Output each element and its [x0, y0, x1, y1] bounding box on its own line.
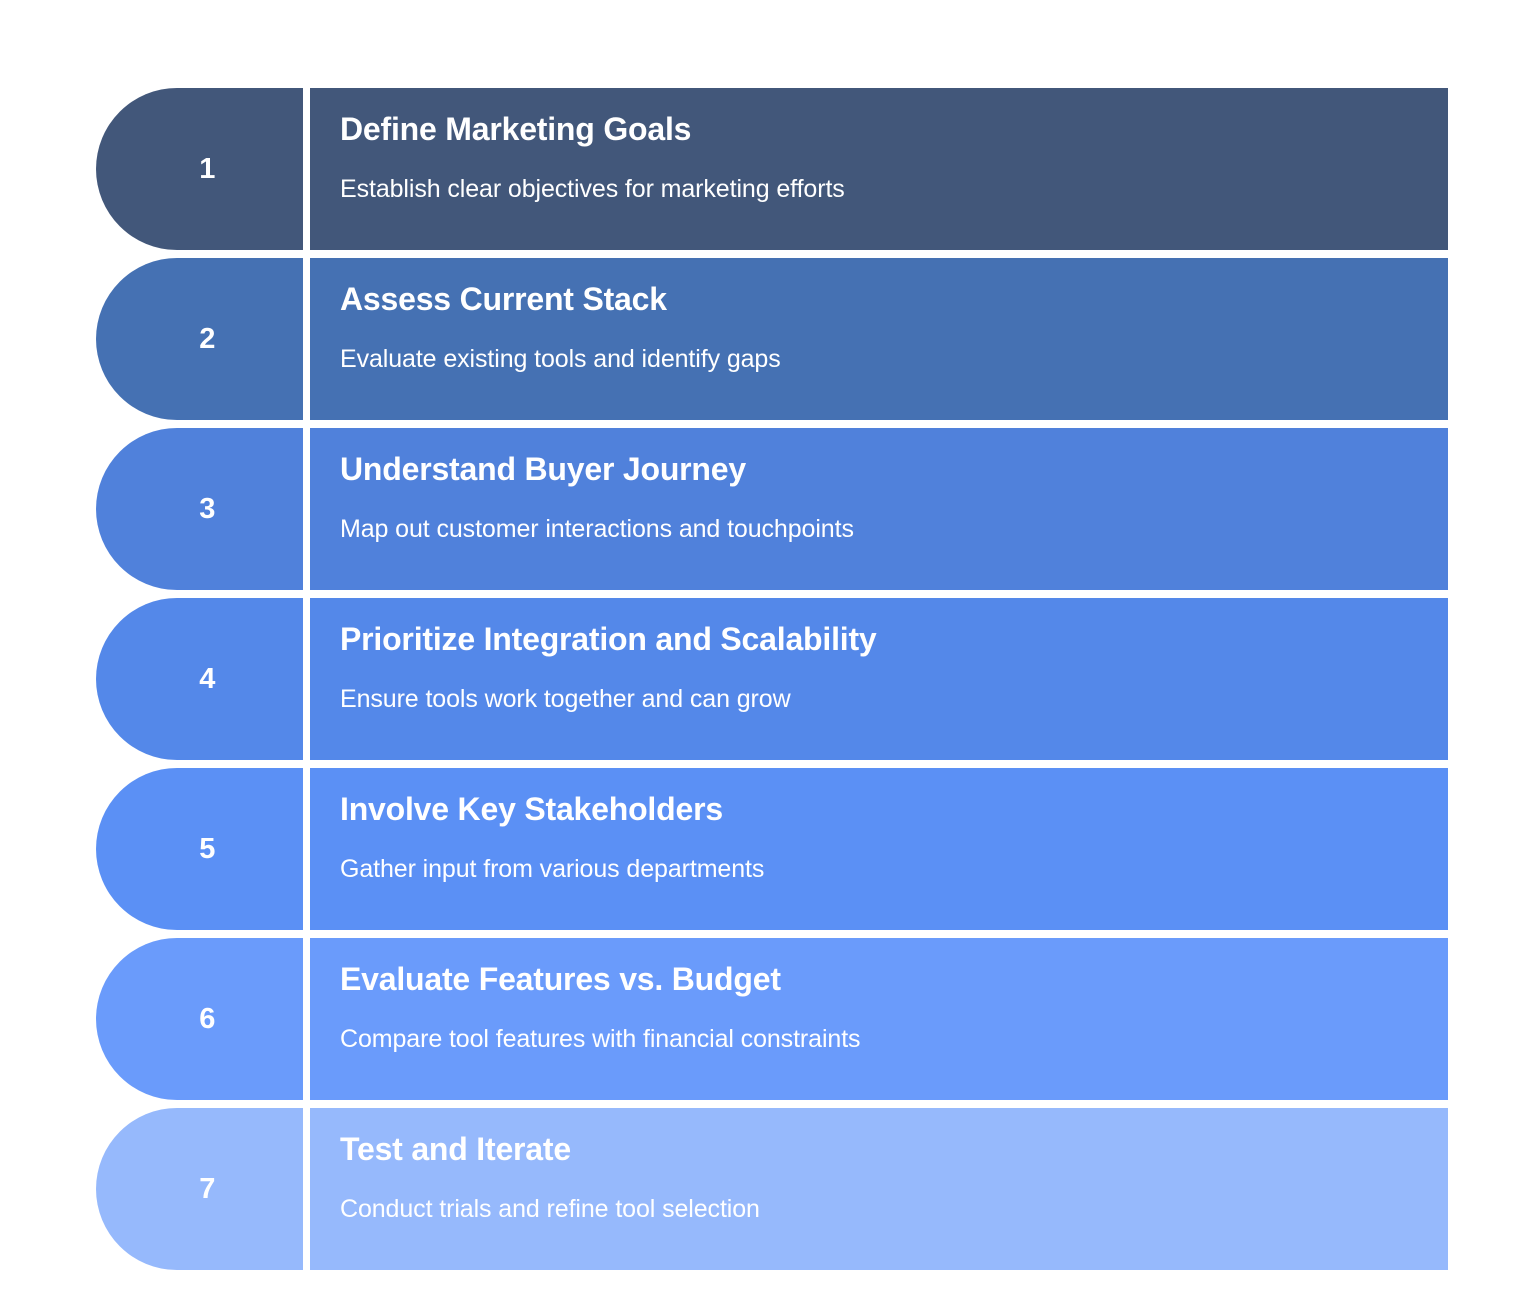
step-number-badge: 5 [96, 768, 303, 930]
step-title: Involve Key Stakeholders [340, 791, 1418, 829]
step-description: Conduct trials and refine tool selection [340, 1194, 1418, 1224]
step-description: Evaluate existing tools and identify gap… [340, 344, 1418, 374]
step-content-panel: Test and Iterate Conduct trials and refi… [310, 1108, 1448, 1270]
step-number-badge: 3 [96, 428, 303, 590]
step-title: Understand Buyer Journey [340, 451, 1418, 489]
step-content-panel: Involve Key Stakeholders Gather input fr… [310, 768, 1448, 930]
step-content-panel: Prioritize Integration and Scalability E… [310, 598, 1448, 760]
step-number: 3 [183, 495, 215, 524]
step-number: 6 [183, 1005, 215, 1034]
step-content-panel: Define Marketing Goals Establish clear o… [310, 88, 1448, 250]
step-row[interactable]: 1 Define Marketing Goals Establish clear… [96, 88, 1448, 250]
step-description: Establish clear objectives for marketing… [340, 174, 1418, 204]
step-content-panel: Assess Current Stack Evaluate existing t… [310, 258, 1448, 420]
step-description: Ensure tools work together and can grow [340, 684, 1418, 714]
step-number: 5 [183, 835, 215, 864]
step-number: 1 [183, 155, 215, 184]
step-row[interactable]: 7 Test and Iterate Conduct trials and re… [96, 1108, 1448, 1270]
step-description: Compare tool features with financial con… [340, 1024, 1418, 1054]
step-row[interactable]: 6 Evaluate Features vs. Budget Compare t… [96, 938, 1448, 1100]
step-title: Test and Iterate [340, 1131, 1418, 1169]
step-number-badge: 4 [96, 598, 303, 760]
step-content-panel: Evaluate Features vs. Budget Compare too… [310, 938, 1448, 1100]
step-number-badge: 1 [96, 88, 303, 250]
step-title: Evaluate Features vs. Budget [340, 961, 1418, 999]
step-title: Prioritize Integration and Scalability [340, 621, 1418, 659]
step-row[interactable]: 3 Understand Buyer Journey Map out custo… [96, 428, 1448, 590]
step-description: Map out customer interactions and touchp… [340, 514, 1418, 544]
step-list: 1 Define Marketing Goals Establish clear… [96, 88, 1448, 1270]
step-number: 4 [183, 665, 215, 694]
step-row[interactable]: 5 Involve Key Stakeholders Gather input … [96, 768, 1448, 930]
step-row[interactable]: 2 Assess Current Stack Evaluate existing… [96, 258, 1448, 420]
step-title: Define Marketing Goals [340, 111, 1418, 149]
step-title: Assess Current Stack [340, 281, 1418, 319]
step-number-badge: 7 [96, 1108, 303, 1270]
step-number: 2 [183, 325, 215, 354]
step-number-badge: 6 [96, 938, 303, 1100]
step-number-badge: 2 [96, 258, 303, 420]
step-number: 7 [183, 1175, 215, 1204]
step-description: Gather input from various departments [340, 854, 1418, 884]
step-row[interactable]: 4 Prioritize Integration and Scalability… [96, 598, 1448, 760]
step-content-panel: Understand Buyer Journey Map out custome… [310, 428, 1448, 590]
